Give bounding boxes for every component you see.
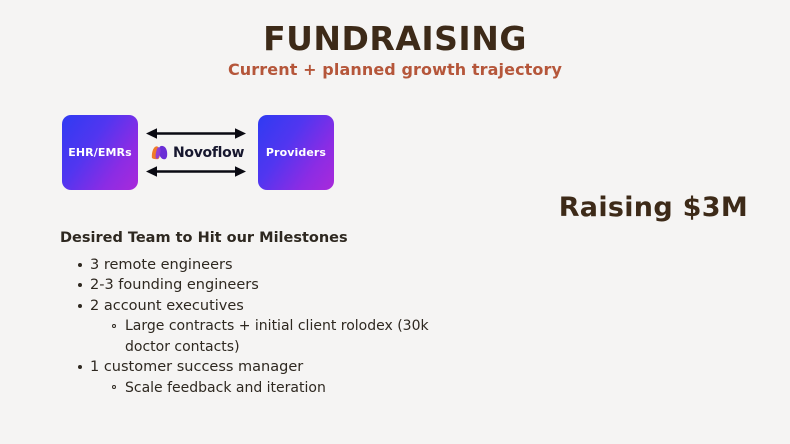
- team-list-item-label: 2-3 founding engineers: [90, 277, 259, 293]
- team-sublist-item-label: Large contracts + initial client rolodex…: [125, 318, 429, 355]
- team-list-item-label: 3 remote engineers: [90, 257, 233, 273]
- raising-amount-callout: Raising $3M: [440, 194, 775, 221]
- novoflow-wordmark: Novoflow: [173, 145, 244, 161]
- diagram-node-providers: Providers: [258, 115, 334, 190]
- desired-team-list: 3 remote engineers2-3 founding engineers…: [60, 255, 440, 399]
- bullet-dot-icon: [78, 365, 82, 369]
- team-list-item: 2-3 founding engineers: [78, 275, 440, 296]
- desired-team-block: Desired Team to Hit our Milestones 3 rem…: [60, 231, 440, 398]
- team-sublist-item: Large contracts + initial client rolodex…: [112, 316, 440, 357]
- team-sublist-item-label: Scale feedback and iteration: [125, 380, 326, 396]
- bullet-dot-icon: [78, 304, 82, 308]
- team-list-item: 3 remote engineers: [78, 255, 440, 276]
- bullet-ring-icon: [112, 385, 116, 389]
- team-list-item: 2 account executivesLarge contracts + in…: [78, 296, 440, 358]
- bullet-dot-icon: [78, 283, 82, 287]
- novoflow-mark-icon: [150, 143, 169, 162]
- team-list-item-label: 2 account executives: [90, 298, 244, 314]
- integration-diagram: EHR/EMRs Novoflow Pro: [62, 115, 334, 190]
- fundraising-slide: FUNDRAISING Current + planned growth tra…: [0, 0, 790, 444]
- team-list-item-label: 1 customer success manager: [90, 359, 303, 375]
- page-title: FUNDRAISING: [0, 22, 790, 55]
- page-subtitle: Current + planned growth trajectory: [0, 62, 790, 78]
- team-sublist: Scale feedback and iteration: [90, 378, 440, 399]
- bullet-dot-icon: [78, 263, 82, 267]
- double-arrow-icon-top: [146, 128, 246, 139]
- team-sublist-item: Scale feedback and iteration: [112, 378, 440, 399]
- diagram-node-ehr-emrs: EHR/EMRs: [62, 115, 138, 190]
- bullet-ring-icon: [112, 324, 116, 328]
- diagram-node-ehr-emrs-label: EHR/EMRs: [68, 146, 132, 159]
- team-list-item: 1 customer success managerScale feedback…: [78, 357, 440, 398]
- team-sublist: Large contracts + initial client rolodex…: [90, 316, 440, 357]
- diagram-node-providers-label: Providers: [266, 146, 326, 159]
- double-arrow-icon-bottom: [146, 166, 246, 177]
- desired-team-heading: Desired Team to Hit our Milestones: [60, 231, 440, 246]
- novoflow-logo-lockup: Novoflow: [150, 142, 242, 163]
